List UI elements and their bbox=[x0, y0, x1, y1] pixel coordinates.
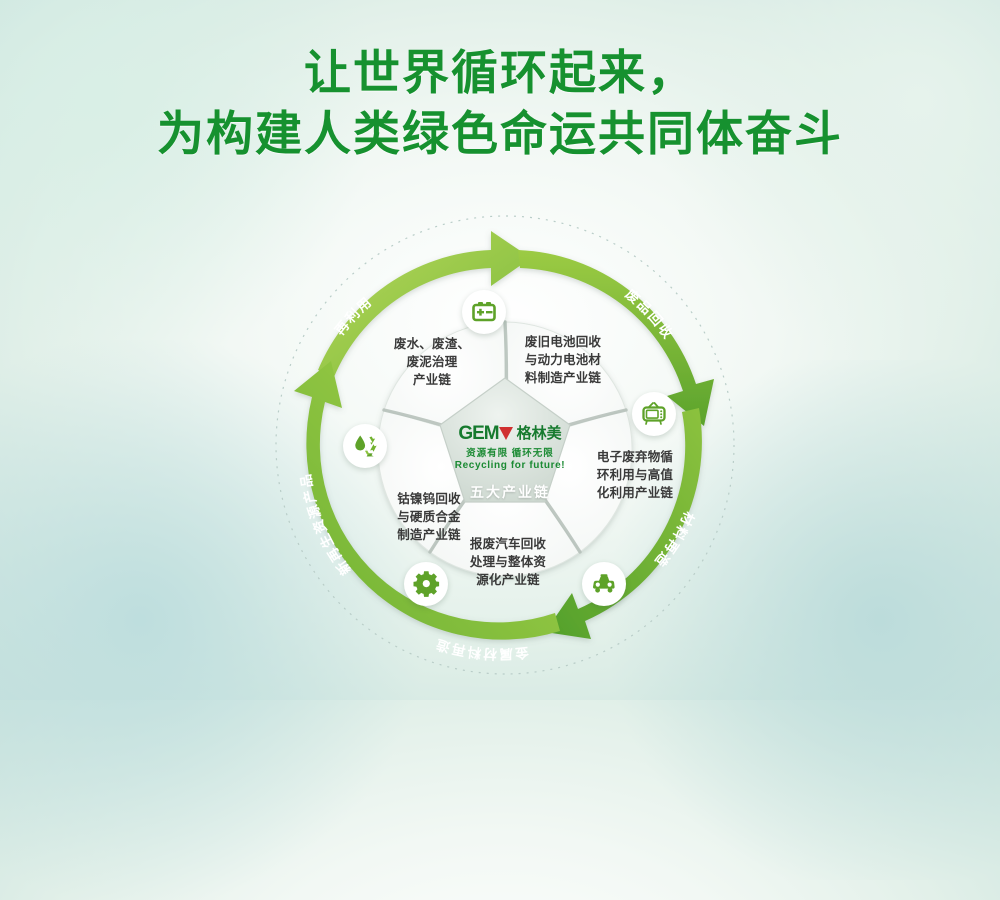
arc-label-newproduct-text: 新再生资源产品 bbox=[298, 471, 354, 578]
battery-icon bbox=[471, 299, 497, 325]
chain-label-wastewater: 废水、废渣、 废泥治理 产业链 bbox=[377, 335, 487, 389]
center-subtitle: 五大产业链 bbox=[452, 482, 568, 502]
icon-bubble-television[interactable] bbox=[632, 392, 676, 436]
chain-label-ewaste: 电子废弃物循 环利用与高值 化利用产业链 bbox=[585, 448, 685, 502]
chain-label-ewaste-line2: 环利用与高值 bbox=[585, 466, 685, 484]
chain-label-battery-line1: 废旧电池回收 bbox=[513, 333, 613, 351]
car-icon bbox=[590, 570, 618, 598]
icon-bubble-battery[interactable] bbox=[462, 290, 506, 334]
chain-label-battery-line2: 与动力电池材 bbox=[513, 351, 613, 369]
icon-bubble-gear[interactable] bbox=[404, 562, 448, 606]
television-icon bbox=[641, 401, 667, 427]
chain-label-ewaste-line3: 化利用产业链 bbox=[585, 484, 685, 502]
page-title-line-2: 为构建人类绿色命运共同体奋斗 bbox=[0, 103, 1000, 164]
gem-chinese-name: 格林美 bbox=[517, 426, 562, 441]
gem-logo: GEM 格林美 资源有限 循环无限 Recycling for future! bbox=[452, 424, 568, 516]
chain-label-wastewater-line3: 产业链 bbox=[377, 371, 487, 389]
gear-icon bbox=[413, 571, 440, 598]
page-title-line-1: 让世界循环起来， bbox=[0, 42, 1000, 103]
gem-slogan-en: Recycling for future! bbox=[452, 460, 568, 471]
arc-label-metal: 金属材料再造 bbox=[432, 636, 530, 663]
chain-label-vehicle-line3: 源化产业链 bbox=[458, 571, 558, 589]
water-recycle-icon bbox=[352, 433, 379, 460]
chain-label-wastewater-line1: 废水、废渣、 bbox=[377, 335, 487, 353]
chain-label-battery-line3: 料制造产业链 bbox=[513, 369, 613, 387]
icon-bubble-water-recycle[interactable] bbox=[343, 424, 387, 468]
gem-triangle-icon bbox=[499, 427, 513, 440]
gem-slogan-cn: 资源有限 循环无限 bbox=[452, 445, 568, 459]
gem-logo-row: GEM 格林美 bbox=[452, 424, 568, 443]
chain-label-vehicle-line2: 处理与整体资 bbox=[458, 553, 558, 571]
chain-label-wastewater-line2: 废泥治理 bbox=[377, 353, 487, 371]
arc-label-metal-text: 金属材料再造 bbox=[432, 636, 530, 663]
page-title: 让世界循环起来， 为构建人类绿色命运共同体奋斗 bbox=[0, 42, 1000, 164]
chain-label-battery: 废旧电池回收 与动力电池材 料制造产业链 bbox=[513, 333, 613, 387]
chain-label-alloy-line3: 制造产业链 bbox=[379, 526, 479, 544]
gem-wordmark: GEM bbox=[458, 424, 498, 443]
chain-label-ewaste-line1: 电子废弃物循 bbox=[585, 448, 685, 466]
arc-label-newproduct: 新再生资源产品 bbox=[298, 471, 354, 578]
icon-bubble-car[interactable] bbox=[582, 562, 626, 606]
